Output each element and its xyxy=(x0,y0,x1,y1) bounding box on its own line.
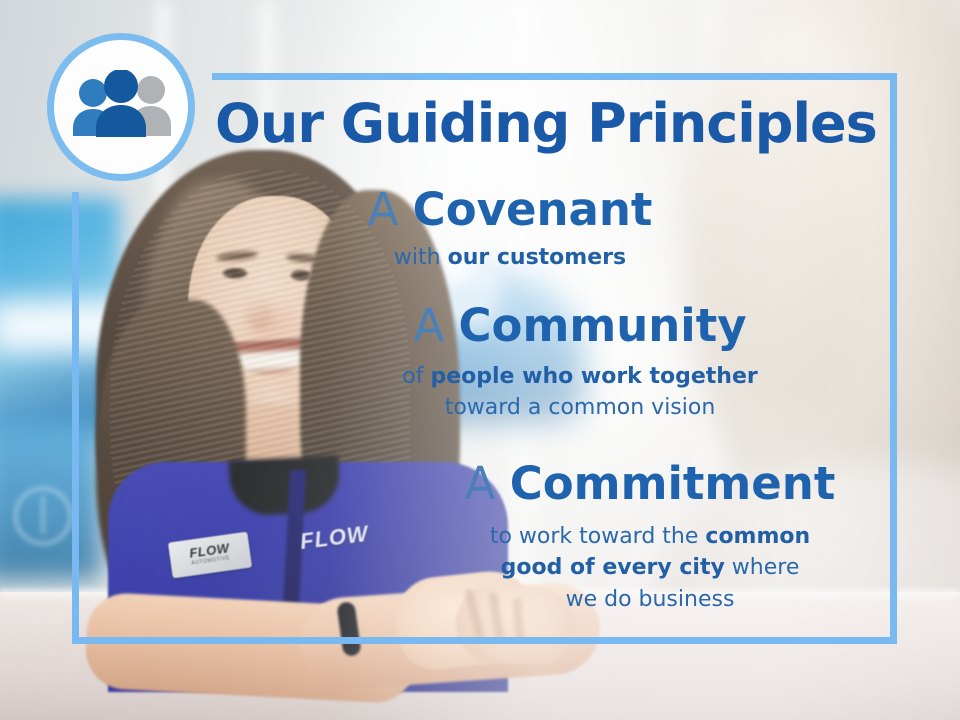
principle-commitment: A Commitment to work toward the common g… xyxy=(420,460,880,615)
poster-canvas: FLOW AUTOMOTIVE FLOW xyxy=(0,0,960,720)
principle-commitment-word: Commitment xyxy=(510,457,836,510)
principle-community-word: Community xyxy=(459,299,747,352)
people-group-icon xyxy=(69,70,173,144)
principle-community-article: A xyxy=(413,299,444,352)
principle-covenant-article: A xyxy=(368,183,399,236)
principle-community-heading: A Community xyxy=(360,302,800,349)
frame-border-right xyxy=(890,73,897,644)
frame-border-top xyxy=(212,73,897,80)
principle-community-detail: of people who work together toward a com… xyxy=(360,361,800,423)
commitment-detail-plain-2: where xyxy=(725,555,800,580)
blurred-brand-emblem-icon xyxy=(14,487,72,545)
principle-covenant-detail: with our customers xyxy=(300,242,720,273)
frame-border-bottom xyxy=(72,637,897,644)
principle-covenant-word: Covenant xyxy=(413,183,653,236)
principle-commitment-heading: A Commitment xyxy=(420,460,880,507)
commitment-detail-plain-3: we do business xyxy=(566,587,735,612)
principle-community: A Community of people who work together … xyxy=(360,302,800,424)
community-detail-bold-1: people who work together xyxy=(430,364,757,389)
covenant-detail-plain: with xyxy=(394,245,448,270)
people-badge xyxy=(47,33,195,181)
covenant-detail-bold: our customers xyxy=(448,245,627,270)
principle-covenant: A Covenant with our customers xyxy=(300,186,720,273)
page-title: Our Guiding Principles xyxy=(215,92,875,155)
commitment-detail-bold-1: common xyxy=(705,524,810,549)
commitment-detail-plain-1: to work toward the xyxy=(490,524,706,549)
commitment-detail-bold-2: good of every city xyxy=(501,555,725,580)
principle-commitment-article: A xyxy=(465,457,496,510)
principle-commitment-detail: to work toward the common good of every … xyxy=(420,521,880,615)
frame-border-left xyxy=(72,192,79,644)
principle-covenant-heading: A Covenant xyxy=(300,186,720,233)
community-detail-plain-2: toward a common vision xyxy=(445,395,716,420)
community-detail-plain-1: of xyxy=(402,364,430,389)
